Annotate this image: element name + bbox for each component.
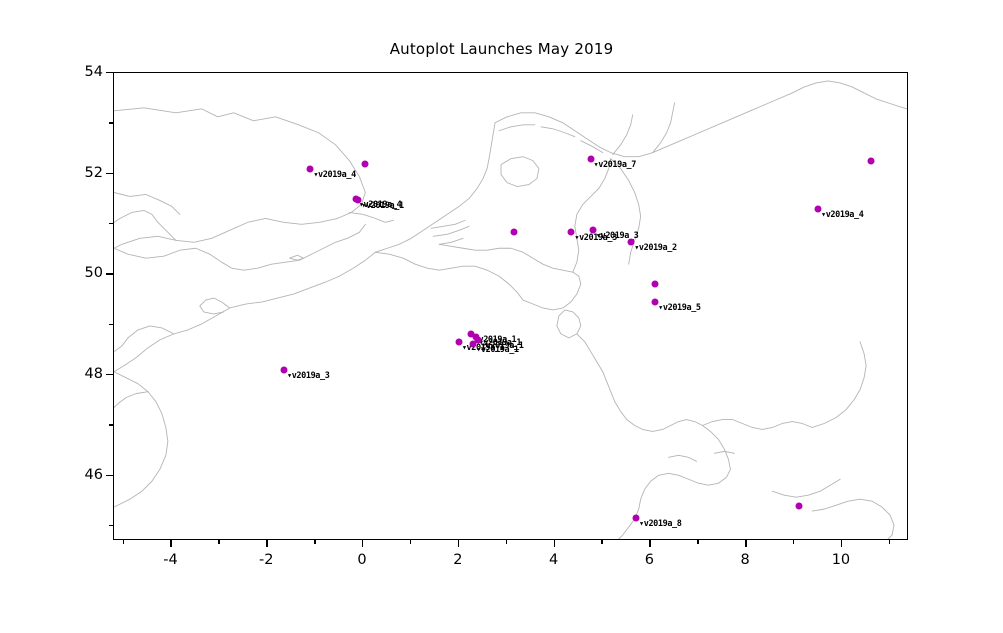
x-axis-tick-label: 6	[645, 552, 654, 568]
data-point-label: ▾v2019a_4	[821, 210, 863, 220]
y-axis-tick	[106, 475, 113, 476]
x-axis-tick-label: -4	[163, 552, 177, 568]
data-point-label: ▾v2019a_3	[287, 371, 329, 381]
x-axis-tick	[314, 540, 315, 544]
x-axis-tick	[793, 540, 794, 544]
y-axis-tick	[106, 374, 113, 375]
x-axis-tick-label: 2	[453, 552, 462, 568]
x-axis-tick	[458, 540, 459, 547]
y-axis-tick	[109, 424, 113, 425]
data-point-label: ▾v2019a_1	[476, 345, 518, 355]
x-axis-tick	[697, 540, 698, 544]
data-point	[510, 228, 517, 235]
x-axis-tick	[601, 540, 602, 544]
data-point	[867, 158, 874, 165]
plot-area: ▾v2019a_4▾v2019a_4▾v2019a_1▾v2019a_7▾v20…	[113, 72, 908, 540]
y-axis-tick-label: 52	[65, 165, 103, 181]
data-point-label: ▾v2019a_2	[634, 243, 676, 253]
data-point	[795, 502, 802, 509]
x-axis-tick	[266, 540, 267, 547]
data-point-label: ▾v2019a_1	[361, 201, 403, 211]
y-axis-tick	[109, 122, 113, 123]
y-axis-tick	[109, 223, 113, 224]
page-title: Autoplot Launches May 2019	[0, 40, 1003, 58]
x-axis-tick	[554, 540, 555, 547]
data-point	[652, 281, 659, 288]
x-axis-tick	[362, 540, 363, 547]
x-axis-tick	[649, 540, 650, 547]
x-axis-tick-label: -2	[259, 552, 273, 568]
x-axis-tick	[218, 540, 219, 544]
x-axis-tick	[506, 540, 507, 544]
y-axis-tick	[106, 173, 113, 174]
x-axis-tick	[170, 540, 171, 547]
x-axis-tick-label: 10	[832, 552, 850, 568]
y-axis-tick-label: 50	[65, 265, 103, 281]
y-axis-tick-label: 48	[65, 366, 103, 382]
x-axis-tick	[123, 540, 124, 544]
data-point-label: ▾v2019a_5	[658, 303, 700, 313]
x-axis-tick	[841, 540, 842, 547]
x-axis-tick-label: 4	[549, 552, 558, 568]
data-point-label: ▾v2019a_4	[313, 170, 355, 180]
x-axis-tick	[745, 540, 746, 547]
data-point	[362, 160, 369, 167]
y-axis-tick	[106, 72, 113, 73]
y-axis-tick	[109, 324, 113, 325]
y-axis-tick-label: 54	[65, 64, 103, 80]
y-axis-tick-label: 46	[65, 467, 103, 483]
x-axis-tick-label: 8	[741, 552, 750, 568]
y-axis-tick	[109, 525, 113, 526]
x-axis-tick	[410, 540, 411, 544]
data-points-layer: ▾v2019a_4▾v2019a_4▾v2019a_1▾v2019a_7▾v20…	[114, 73, 907, 539]
x-axis-tick-label: 0	[357, 552, 366, 568]
y-axis-tick	[106, 273, 113, 274]
plot-window: Autoplot Launches May 2019	[0, 0, 1003, 633]
x-axis-tick	[889, 540, 890, 544]
data-point-label: ▾v2019a_8	[639, 519, 681, 529]
data-point-label: ▾v2019a_7	[594, 160, 636, 170]
